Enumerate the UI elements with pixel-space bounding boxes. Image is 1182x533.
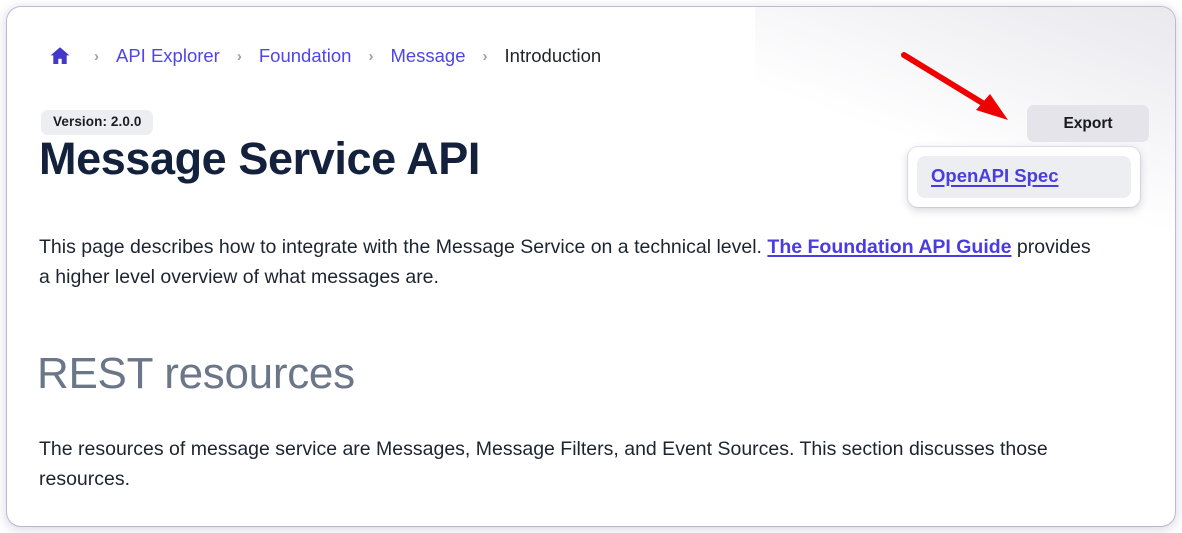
breadcrumb-separator-1: ›: [77, 49, 116, 64]
export-menu-item-openapi-spec[interactable]: OpenAPI Spec: [917, 156, 1131, 198]
foundation-api-guide-link[interactable]: The Foundation API Guide: [767, 236, 1011, 258]
breadcrumb-separator-2: ›: [220, 49, 259, 64]
rest-resources-paragraph: The resources of message service are Mes…: [39, 435, 1094, 494]
page-content: › API Explorer › Foundation › Message › …: [7, 7, 1175, 526]
breadcrumb-item-api-explorer[interactable]: API Explorer: [116, 47, 220, 66]
home-icon[interactable]: [47, 43, 73, 69]
intro-text-before-link: This page describes how to integrate wit…: [39, 236, 767, 258]
page-frame: › API Explorer › Foundation › Message › …: [7, 7, 1175, 526]
breadcrumb-separator-3: ›: [351, 49, 390, 64]
openapi-spec-link[interactable]: OpenAPI Spec: [931, 165, 1058, 186]
breadcrumb: › API Explorer › Foundation › Message › …: [47, 43, 601, 69]
version-badge: Version: 2.0.0: [41, 110, 153, 135]
intro-paragraph: This page describes how to integrate wit…: [39, 233, 1094, 292]
screenshot-viewport: › API Explorer › Foundation › Message › …: [0, 0, 1182, 533]
export-dropdown-menu: OpenAPI Spec: [908, 147, 1140, 207]
breadcrumb-item-message[interactable]: Message: [390, 47, 465, 66]
breadcrumb-item-introduction: Introduction: [505, 47, 602, 66]
export-button[interactable]: Export: [1027, 105, 1149, 142]
page-title: Message Service API: [39, 132, 480, 185]
breadcrumb-separator-4: ›: [466, 49, 505, 64]
breadcrumb-item-foundation[interactable]: Foundation: [259, 47, 352, 66]
section-heading-rest-resources: REST resources: [37, 350, 355, 398]
